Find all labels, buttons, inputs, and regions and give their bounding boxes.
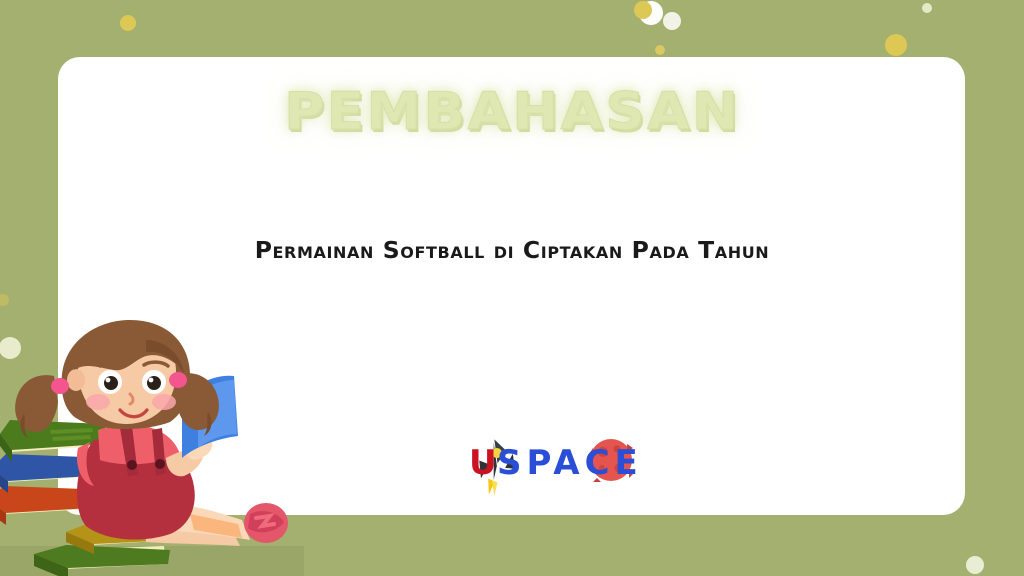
dot-gold-top-center	[634, 1, 652, 19]
dot-pale-top-far	[922, 3, 932, 13]
dot-gold-upper-mid	[655, 45, 665, 55]
dot-gold-edge-left	[0, 294, 9, 306]
dot-gold-top-right	[885, 34, 907, 56]
headline-text: Permainan Softball di Ciptakan Pada Tahu…	[0, 236, 1024, 264]
dot-pale-bottom-mid	[966, 556, 984, 574]
uspace-logo[interactable]: U SPACE	[462, 430, 652, 500]
dot-gold-top-left	[120, 15, 136, 31]
shoe	[244, 503, 288, 543]
girl-reading-illustration	[0, 318, 304, 576]
logo-letter-u: U	[469, 443, 500, 483]
slide-canvas: PEMBAHASAN Permainan Softball di Ciptaka…	[0, 0, 1024, 576]
logo-word-space: SPACE	[497, 443, 643, 483]
dot-white-top-right	[663, 12, 681, 30]
